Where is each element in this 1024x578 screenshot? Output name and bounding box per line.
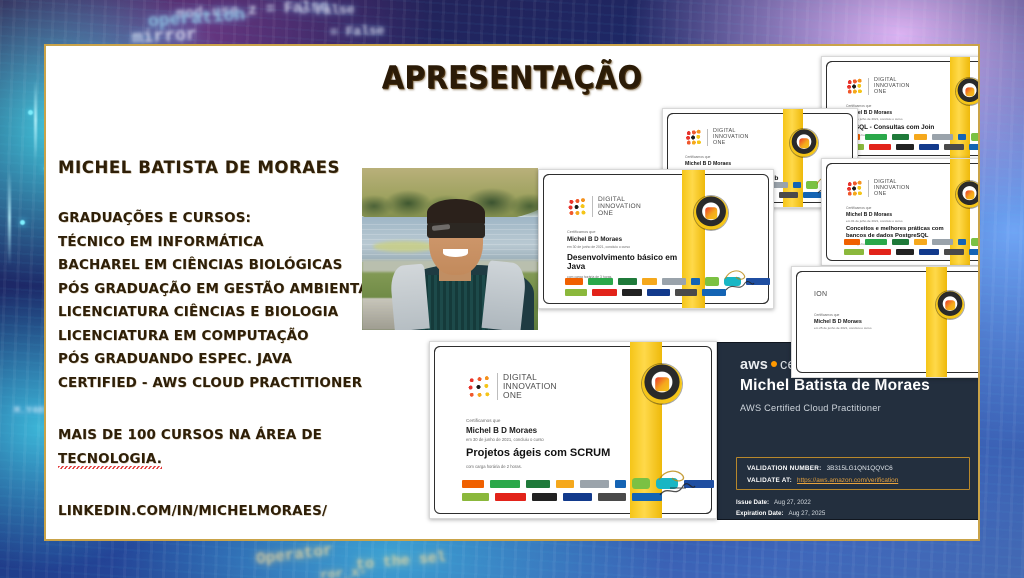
certificate-card-scrum[interactable]: DIGITAL INNOVATION ONE Certificamos que … — [429, 341, 717, 519]
aws-credential-title: AWS Certified Cloud Practitioner — [740, 403, 881, 413]
cert-date: em 30 de junho de 2021, concluiu o curso — [466, 437, 626, 442]
cert-seal-icon — [956, 78, 980, 105]
issuer-line: ONE — [503, 391, 557, 400]
aws-verification-link[interactable]: https://aws.amazon.com/verification — [797, 475, 898, 487]
cert-date: em 01 de julho de 2021, concluiu o curso — [846, 219, 944, 223]
aws-validation-number-value: 3B315LG1QN1QQVC6 — [827, 463, 893, 475]
cert-preamble: Certificamos que — [567, 230, 687, 234]
aws-validate-at-label: VALIDATE AT: — [747, 475, 792, 487]
certificate-card-partial[interactable]: ION Certificamos que Michel B D Moraes e… — [791, 266, 980, 378]
cert-student: Michel B D Moraes — [466, 426, 626, 435]
cert-signature — [723, 267, 755, 294]
cert-seal-icon — [642, 364, 682, 404]
courses-note-line-2: TECNOLOGIA. — [58, 448, 378, 472]
aws-issue-date-value: Aug 27, 2022 — [774, 499, 811, 506]
cert-preamble: Certificamos que — [846, 104, 941, 108]
bio-line: TÉCNICO EM INFORMÁTICA — [58, 231, 378, 255]
cert-student: Michel B D Moraes — [567, 236, 687, 243]
cert-date: em 01 de julho de 2021, concluiu o curso — [846, 117, 941, 121]
aws-dot-icon — [771, 361, 777, 367]
page-title: APRESENTAÇÃO — [83, 60, 940, 96]
cert-seal-icon — [790, 129, 818, 157]
aws-validation-box: VALIDATION NUMBER: 3B315LG1QN1QQVC6 VALI… — [736, 457, 970, 490]
issuer-line: ONE — [713, 141, 749, 147]
cert-hours: com carga horária de 2 horas. — [466, 464, 626, 469]
aws-holder-name: Michel Batista de Moraes — [740, 377, 930, 395]
cert-seal-icon — [956, 181, 980, 208]
cert-date: em 30 de junho de 2021, concluiu o curso — [567, 245, 687, 249]
dio-logo-icon — [466, 374, 492, 400]
cert-preamble: Certificamos que — [466, 418, 626, 423]
aws-wordmark-text: aws — [740, 357, 768, 373]
cert-preamble: Certificamos que — [685, 155, 785, 159]
dio-logo-icon — [567, 197, 587, 217]
aws-validation-number-row: VALIDATION NUMBER: 3B315LG1QN1QQVC6 — [747, 463, 969, 475]
issuer-line: ONE — [874, 192, 910, 198]
bio-column: MICHEL BATISTA DE MORAES GRADUAÇÕES E CU… — [58, 158, 378, 524]
certificate-card-postgresql[interactable]: DIGITAL INNOVATION ONE Certificamos que … — [821, 158, 980, 266]
profile-photo — [362, 168, 538, 330]
cert-signature — [656, 466, 696, 500]
courses-note-line-1: MAIS DE 100 CURSOS NA ÁREA DE — [58, 424, 378, 448]
cert-preamble: Certificamos que — [846, 206, 944, 210]
cert-seal-icon — [936, 291, 964, 319]
aws-validate-at-row: VALIDATE AT: https://aws.amazon.com/veri… — [747, 475, 969, 487]
cert-date: em 25 de junho de 2021, concluiu o curso — [814, 326, 924, 330]
aws-issue-date-label: Issue Date: — [736, 499, 769, 506]
cert-course: Projetos ágeis com SCRUM — [466, 447, 626, 460]
aws-expiration-date-value: Aug 27, 2025 — [788, 510, 825, 517]
bio-line: PÓS GRADUAÇÃO EM GESTÃO AMBIENTAL — [58, 278, 378, 302]
aws-expiration-date-label: Expiration Date: — [736, 510, 783, 517]
cert-student: Michel B D Moraes — [685, 161, 785, 167]
slide-panel: APRESENTAÇÃO MICHEL BATISTA DE MORAES GR… — [44, 44, 980, 541]
issuer-line: ONE — [598, 210, 641, 217]
bio-line: PÓS GRADUANDO ESPEC. JAVA — [58, 348, 378, 372]
cert-preamble: Certificamos que — [814, 313, 924, 317]
bio-line: GRADUAÇÕES E CURSOS: — [58, 207, 378, 231]
dio-logo-icon — [846, 180, 863, 197]
bio-line: CERTIFIED - AWS CLOUD PRACTITIONER — [58, 372, 378, 396]
cert-student: Michel B D Moraes — [846, 212, 944, 218]
cert-course: Desenvolvimento básico em Java — [567, 253, 687, 272]
person-name: MICHEL BATISTA DE MORAES — [58, 158, 378, 177]
bio-line: LICENCIATURA EM COMPUTAÇÃO — [58, 325, 378, 349]
aws-validation-number-label: VALIDATION NUMBER: — [747, 463, 822, 475]
bio-line: BACHAREL EM CIÊNCIAS BIOLÓGICAS — [58, 254, 378, 278]
certificate-card-java[interactable]: DIGITAL INNOVATION ONE Certificamos que … — [538, 169, 774, 309]
bio-line: LICENCIATURA CIÊNCIAS E BIOLOGIA — [58, 301, 378, 325]
dio-logo-icon — [846, 78, 863, 95]
slide-screenshot: mod.use_z = False operation mirror = Fal… — [0, 0, 1024, 578]
aws-expiration-date-row: Expiration Date: Aug 27, 2025 — [736, 510, 825, 517]
aws-issue-date-row: Issue Date: Aug 27, 2022 — [736, 499, 811, 506]
spellcheck-underlined-word: TECNOLOGIA. — [58, 452, 162, 469]
cert-course: MySQL - Consultas com Join — [846, 124, 941, 131]
dio-logo-icon — [685, 129, 702, 146]
cert-student: Michel B D Moraes — [846, 110, 941, 116]
cert-student: Michel B D Moraes — [814, 319, 924, 325]
issuer-line: INNOVATION — [598, 203, 641, 210]
cert-seal-icon — [694, 196, 728, 230]
issuer-line: ION — [814, 291, 827, 298]
issuer-line: DIGITAL — [598, 196, 641, 203]
issuer-line: ONE — [874, 90, 910, 96]
linkedin-url[interactable]: LINKEDIN.COM/IN/MICHELMORAES/ — [58, 500, 378, 524]
